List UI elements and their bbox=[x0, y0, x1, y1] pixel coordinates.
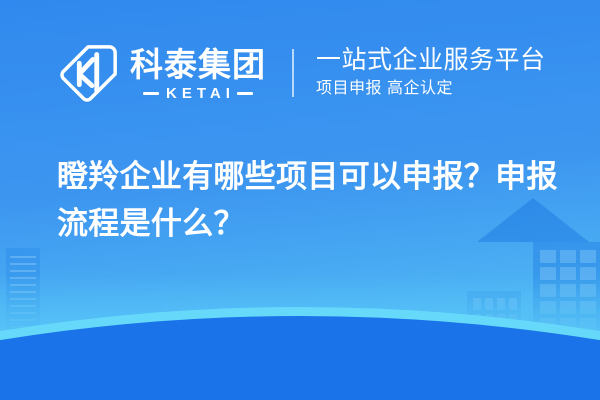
tagline-main: 一站式企业服务平台 bbox=[316, 46, 546, 74]
brand-name-en-row: KETAI bbox=[130, 86, 266, 101]
ketai-diamond-monogram-icon bbox=[58, 42, 120, 104]
brand-name-en: KETAI bbox=[166, 86, 235, 101]
promo-banner: 科泰集团 KETAI 一站式企业服务平台 项目申报 高企认定 瞪羚企业有哪些项目… bbox=[0, 0, 600, 400]
page-title: 瞪羚企业有哪些项目可以申报？申报流程是什么？ bbox=[57, 153, 567, 247]
curved-horizon-arc-icon bbox=[0, 280, 600, 400]
header-divider bbox=[292, 49, 294, 97]
tagline-block: 一站式企业服务平台 项目申报 高企认定 bbox=[316, 46, 546, 100]
wordmark-dash-right bbox=[237, 92, 253, 95]
tagline-sub: 项目申报 高企认定 bbox=[316, 79, 546, 98]
brand-header: 科泰集团 KETAI 一站式企业服务平台 项目申报 高企认定 bbox=[58, 42, 546, 104]
brand-wordmark: 科泰集团 KETAI bbox=[130, 46, 266, 101]
wordmark-dash-left bbox=[143, 92, 159, 95]
brand-name-cn: 科泰集团 bbox=[130, 48, 266, 81]
